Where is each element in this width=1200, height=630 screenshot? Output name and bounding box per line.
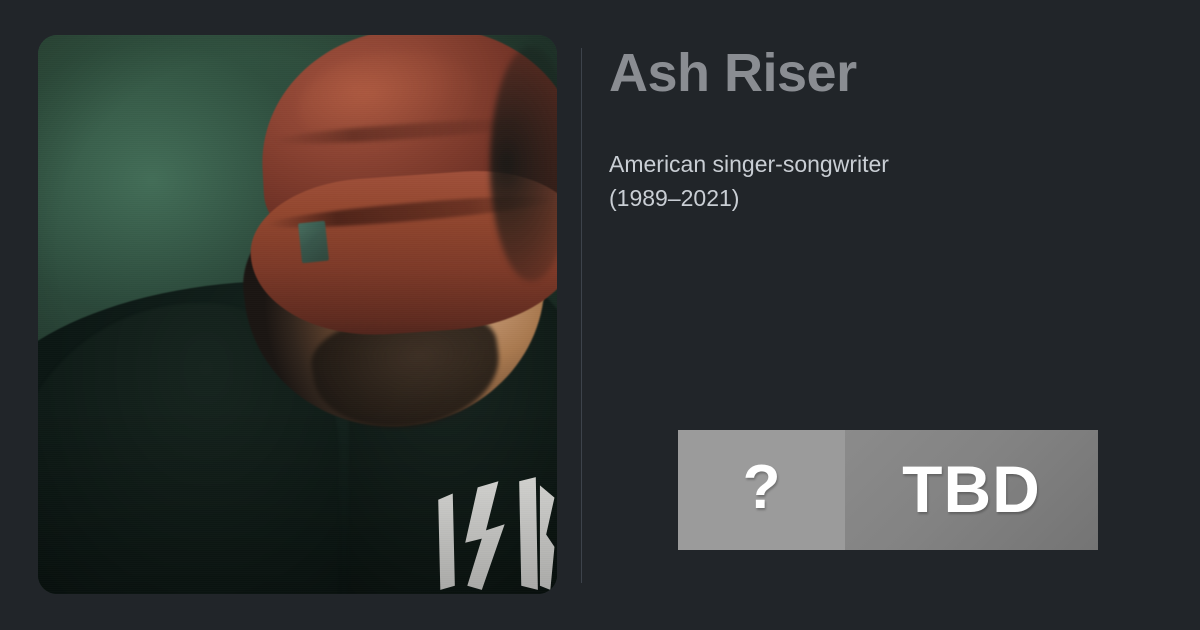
artist-photo bbox=[38, 35, 557, 594]
beanie-label-patch bbox=[298, 221, 329, 264]
page-subtitle: American singer-songwriter (1989–2021) bbox=[609, 102, 939, 215]
info-column: Ash Riser American singer-songwriter (19… bbox=[609, 45, 1129, 215]
vertical-divider bbox=[581, 48, 582, 583]
status-badge-label-segment: TBD bbox=[845, 430, 1098, 550]
social-preview-card: Ash Riser American singer-songwriter (19… bbox=[0, 0, 1200, 630]
hoodie-graphic bbox=[432, 471, 557, 594]
status-badge: ? TBD bbox=[678, 430, 1098, 550]
question-mark-icon: ? bbox=[743, 457, 781, 519]
status-badge-icon-segment: ? bbox=[678, 430, 845, 550]
status-badge-label: TBD bbox=[902, 456, 1041, 522]
page-title: Ash Riser bbox=[609, 45, 1129, 102]
artist-photo-image bbox=[38, 35, 557, 594]
